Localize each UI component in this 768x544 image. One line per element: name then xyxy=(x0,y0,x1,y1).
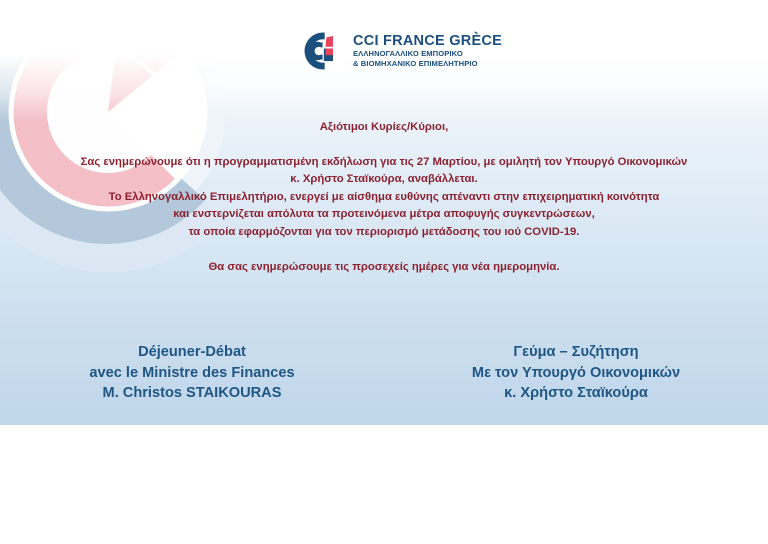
event-captions: Déjeuner-Débat avec le Ministre des Fina… xyxy=(0,342,768,404)
body-spacer-1 xyxy=(0,137,768,154)
body-line-2: κ. Χρήστο Σταϊκούρα, αναβάλλεται. xyxy=(0,171,768,189)
cci-france-grece-logo-icon xyxy=(302,30,344,72)
logo-pink-flag xyxy=(326,36,334,47)
logo-pink-accent xyxy=(326,48,334,55)
logo-title: CCI FRANCE GRÈCE xyxy=(353,33,502,49)
logo-block: CCI FRANCE GRÈCE ΕΛΛΗΝΟΓΑΛΛΙΚΟ ΕΜΠΟΡΙΚΟ … xyxy=(302,28,502,74)
salutation-line: Αξιότιμοι Κυρίες/Κύριοι, xyxy=(0,119,768,137)
caption-greek: Γεύμα – Συζήτηση Με τον Υπουργό Οικονομι… xyxy=(384,342,768,404)
logo-right-mask xyxy=(333,30,344,72)
caption-french-line-2: avec le Ministre des Finances xyxy=(0,363,384,384)
caption-french-line-1: Déjeuner-Débat xyxy=(0,342,384,363)
body-line-4: και ενστερνίζεται απόλυτα τα προτεινόμεν… xyxy=(0,206,768,224)
caption-french-line-3: M. Christos STAIKOURAS xyxy=(0,383,384,404)
logo-subtitle-line-2: & ΒΙΟΜΗΧΑΝΙΚΟ ΕΠΙΜΕΛΗΤΗΡΙΟ xyxy=(353,59,502,69)
logo-wordmark: CCI FRANCE GRÈCE ΕΛΛΗΝΟΓΑΛΛΙΚΟ ΕΜΠΟΡΙΚΟ … xyxy=(353,33,502,69)
announcement-body: Αξιότιμοι Κυρίες/Κύριοι, Σας ενημερώνουμ… xyxy=(0,119,768,276)
caption-greek-line-2: Με τον Υπουργό Οικονομικών xyxy=(384,363,768,384)
closing-line: Θα σας ενημερώσουμε τις προσεχείς ημέρες… xyxy=(0,259,768,277)
announcement-slide: CCI FRANCE GRÈCE ΕΛΛΗΝΟΓΑΛΛΙΚΟ ΕΜΠΟΡΙΚΟ … xyxy=(0,0,768,425)
caption-greek-line-3: κ. Χρήστο Σταϊκούρα xyxy=(384,383,768,404)
body-line-5: τα οποία εφαρμόζονται για τον περιορισμό… xyxy=(0,224,768,242)
caption-greek-line-1: Γεύμα – Συζήτηση xyxy=(384,342,768,363)
caption-french: Déjeuner-Débat avec le Ministre des Fina… xyxy=(0,342,384,404)
bottom-white-area xyxy=(0,425,768,544)
logo-subtitle-line-1: ΕΛΛΗΝΟΓΑΛΛΙΚΟ ΕΜΠΟΡΙΚΟ xyxy=(353,49,502,59)
body-line-1: Σας ενημερώνουμε ότι η προγραμματισμένη … xyxy=(0,154,768,172)
body-line-3: Το Ελληνογαλλικό Επιμελητήριο, ενεργεί μ… xyxy=(0,189,768,207)
body-spacer-2 xyxy=(0,242,768,259)
